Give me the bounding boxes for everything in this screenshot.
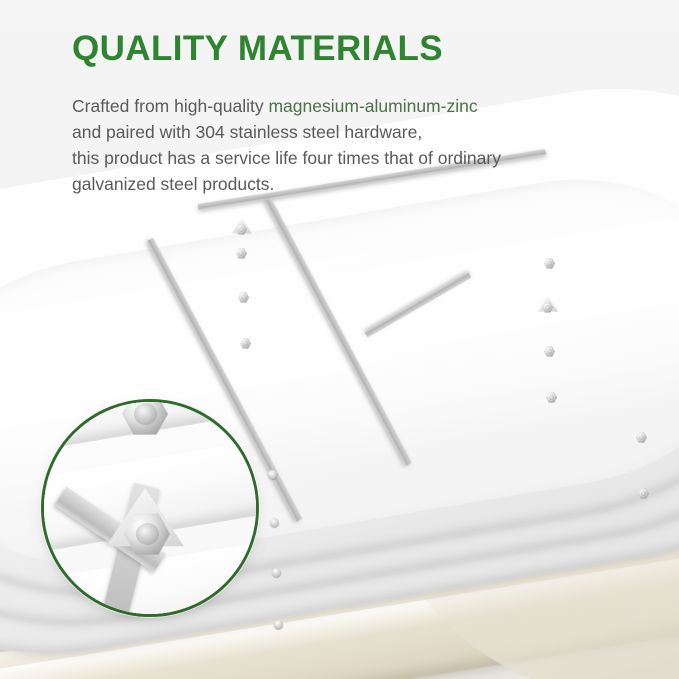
rim-screw (270, 518, 279, 527)
material-highlight: magnesium-aluminum-zinc (268, 96, 477, 116)
description-line-3: this product has a service life four tim… (72, 145, 612, 171)
magnified-detail (41, 399, 259, 617)
magnifier-callout (41, 399, 259, 617)
description-text: Crafted from high-quality magnesium-alum… (72, 93, 612, 197)
description-line-1: Crafted from high-quality magnesium-alum… (72, 93, 612, 119)
description-line-1-plain: Crafted from high-quality (72, 96, 268, 116)
rim-screw (272, 568, 281, 577)
product-feature-image: QUALITY MATERIALS Crafted from high-qual… (0, 0, 679, 679)
page-title: QUALITY MATERIALS (72, 31, 443, 66)
rim-screw (268, 470, 277, 479)
description-line-4: galvanized steel products. (72, 171, 612, 197)
description-line-2: and paired with 304 stainless steel hard… (72, 119, 612, 145)
rim-screw (274, 620, 283, 629)
